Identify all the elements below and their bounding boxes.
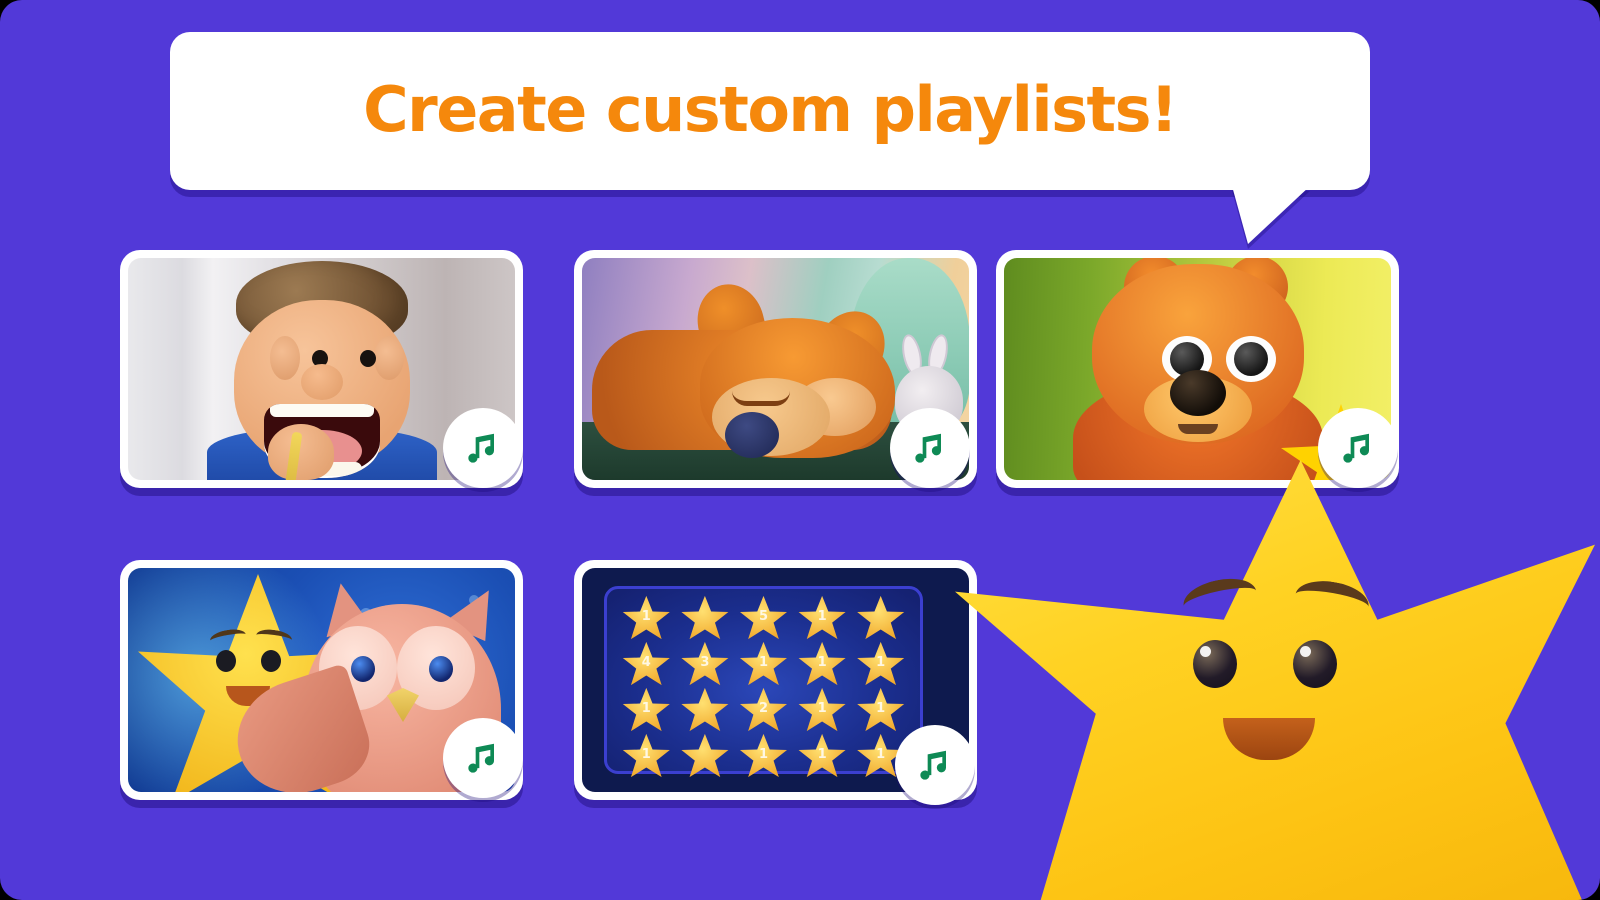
level-number: 1 [642, 701, 651, 716]
puppet-nose [301, 364, 343, 400]
bear-closed-eye [732, 391, 790, 406]
cub-nose [1170, 370, 1226, 416]
level-number: 5 [759, 609, 768, 624]
mascot-body [955, 460, 1595, 900]
star-mascot [955, 460, 1595, 900]
bear-nose [725, 412, 779, 458]
mascot-eye-left [1193, 640, 1237, 688]
level-star[interactable] [681, 595, 729, 641]
puppet-upper-teeth [270, 404, 374, 417]
level-number: 1 [642, 747, 651, 762]
level-star[interactable] [681, 687, 729, 733]
music-badge-card-3[interactable] [1318, 408, 1398, 488]
mascot-brow-left [1180, 573, 1260, 625]
music-note-icon [1336, 426, 1380, 470]
mascot-brow-right [1292, 576, 1371, 625]
level-star[interactable] [857, 595, 905, 641]
level-star[interactable]: 4 [622, 641, 670, 687]
level-star[interactable]: 1 [739, 733, 787, 779]
level-number: 1 [876, 655, 885, 670]
level-number: 1 [818, 609, 827, 624]
level-star[interactable]: 2 [739, 687, 787, 733]
level-star[interactable]: 1 [857, 641, 905, 687]
owl-eye-left [351, 656, 375, 682]
level-number: 1 [818, 701, 827, 716]
level-star[interactable]: 1 [798, 641, 846, 687]
level-star[interactable]: 5 [739, 595, 787, 641]
level-grid: 1514311112111111 [604, 586, 923, 774]
cub-mouth [1178, 424, 1218, 434]
star-eye-left [216, 650, 236, 672]
level-star[interactable]: 1 [857, 687, 905, 733]
level-star[interactable]: 1 [739, 641, 787, 687]
level-number: 1 [818, 747, 827, 762]
music-note-icon [461, 736, 505, 780]
cub-eye-right [1226, 336, 1276, 382]
music-note-icon [913, 743, 957, 787]
mascot-eye-right [1293, 640, 1337, 688]
music-badge-card-5[interactable] [895, 725, 975, 805]
music-badge-card-1[interactable] [443, 408, 523, 488]
star-eye-right [261, 650, 281, 672]
level-number: 1 [876, 747, 885, 762]
puppet-hand [268, 424, 334, 480]
level-number: 1 [759, 655, 768, 670]
music-note-icon [908, 426, 952, 470]
app-screen: Create custom playlists! [0, 0, 1600, 900]
level-number: 1 [818, 655, 827, 670]
level-star[interactable]: 1 [798, 733, 846, 779]
puppet-ear-right [374, 336, 404, 380]
speech-bubble: Create custom playlists! [170, 32, 1370, 190]
level-number: 1 [876, 701, 885, 716]
puppet-eye-right [360, 350, 376, 367]
music-badge-card-4[interactable] [443, 718, 523, 798]
level-star[interactable] [681, 733, 729, 779]
level-star[interactable]: 1 [798, 595, 846, 641]
level-star[interactable]: 3 [681, 641, 729, 687]
level-star[interactable]: 1 [622, 733, 670, 779]
page-title: Create custom playlists! [363, 73, 1177, 146]
level-star[interactable]: 1 [798, 687, 846, 733]
music-badge-card-2[interactable] [890, 408, 970, 488]
owl-eye-right [429, 656, 453, 682]
level-star[interactable]: 1 [622, 595, 670, 641]
level-number: 1 [759, 747, 768, 762]
mascot-mouth [1223, 718, 1315, 760]
level-number: 2 [759, 701, 768, 716]
level-number: 1 [642, 609, 651, 624]
level-number: 4 [642, 655, 651, 670]
level-star[interactable]: 1 [622, 687, 670, 733]
speech-bubble-tail [1232, 186, 1310, 244]
level-number: 3 [700, 655, 709, 670]
puppet-ear-left [270, 336, 300, 380]
music-note-icon [461, 426, 505, 470]
